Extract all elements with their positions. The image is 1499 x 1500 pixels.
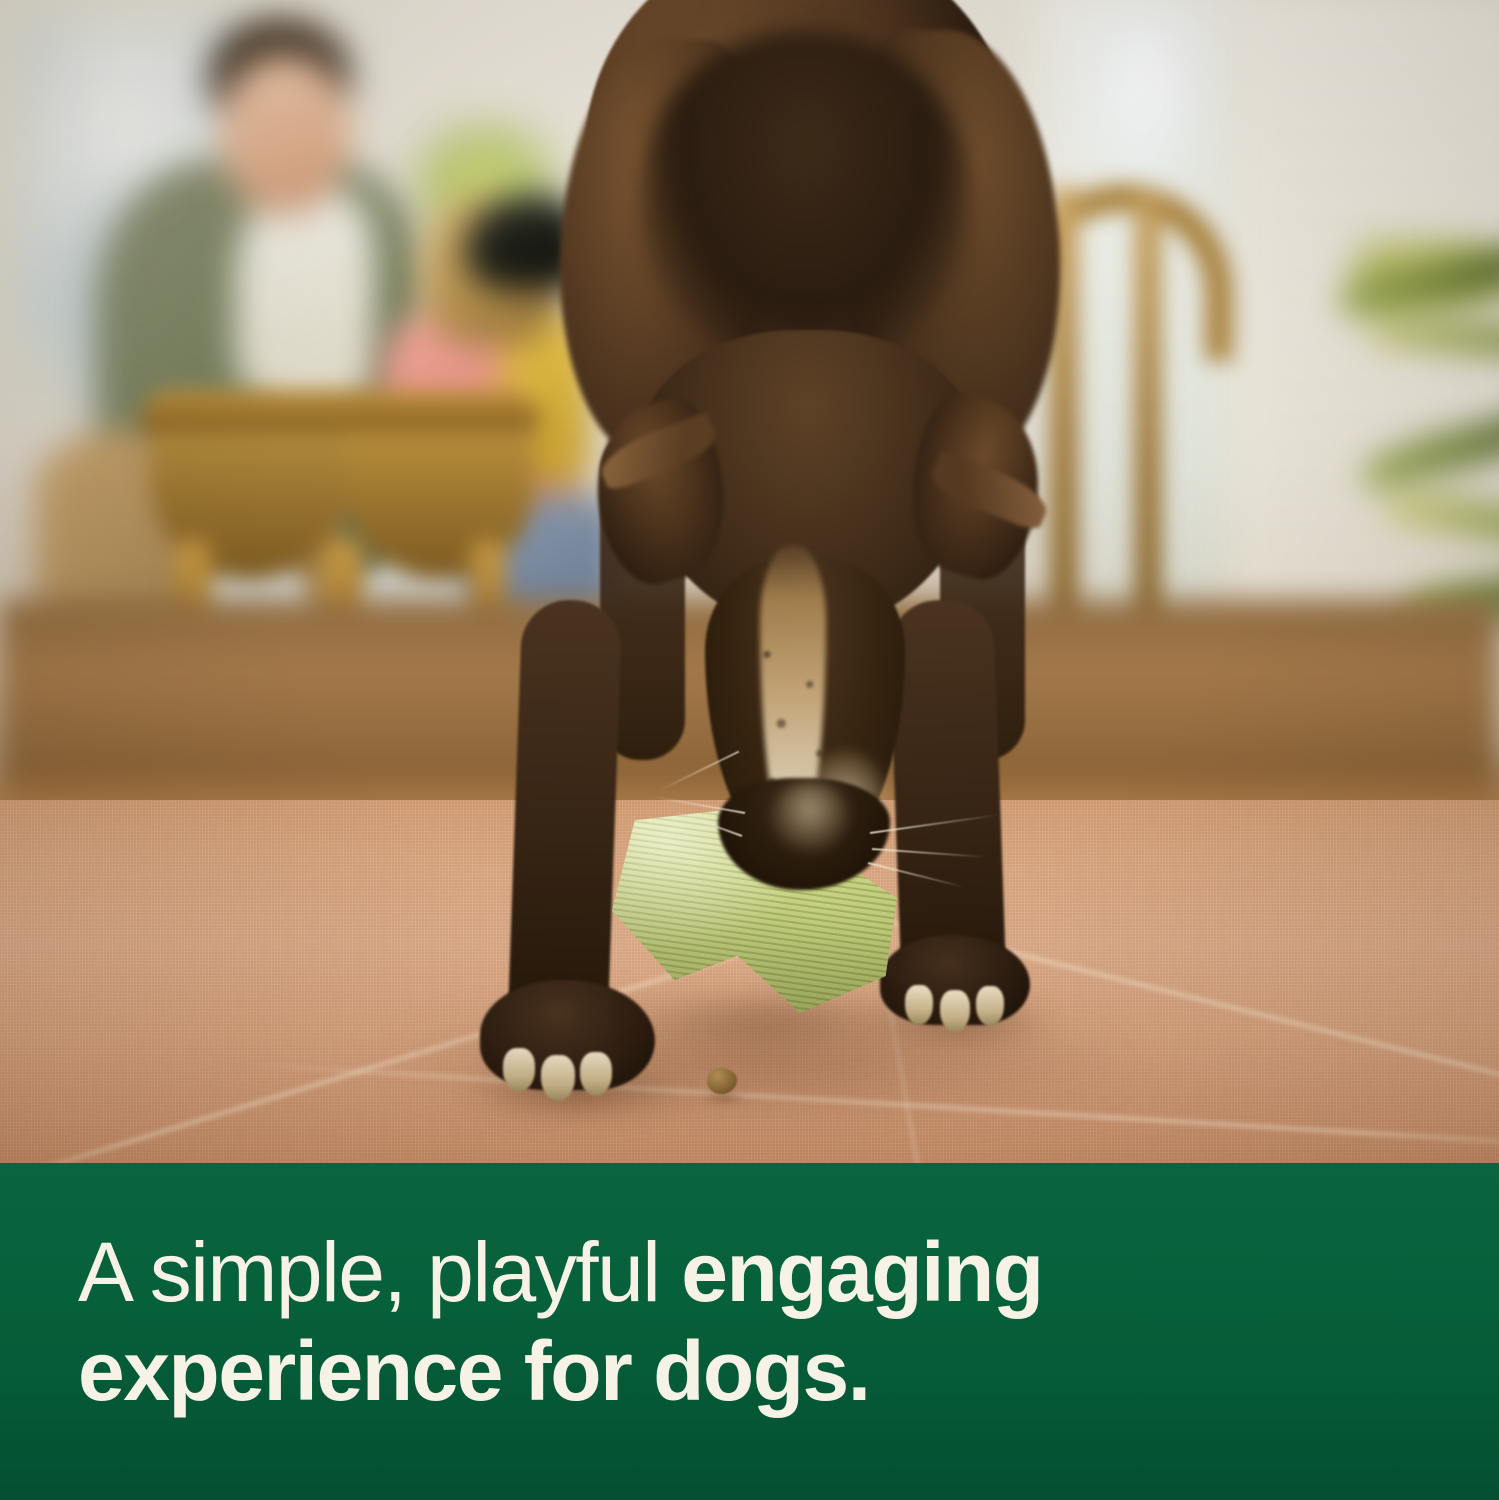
- dog-spine-shading: [640, 30, 970, 360]
- headline-line-two: experience for dogs.: [78, 1322, 1378, 1421]
- dog-toe: [976, 986, 1004, 1026]
- dog-foreleg-left: [508, 598, 623, 1031]
- headline: A simple, playful engagingexperience for…: [78, 1223, 1378, 1421]
- dog-muzzle-highlight: [770, 782, 850, 852]
- dog-toe: [503, 1048, 535, 1092]
- headline-banner: A simple, playful engagingexperience for…: [0, 1163, 1499, 1500]
- headline-container: A simple, playful engagingexperience for…: [78, 1223, 1439, 1421]
- lifestyle-photo: [0, 0, 1499, 1166]
- dog-toe: [541, 1055, 575, 1101]
- headline-lead: A simple, playful: [78, 1225, 681, 1319]
- product-lifestyle-banner: A simple, playful engagingexperience for…: [0, 0, 1499, 1500]
- dog-toe: [940, 990, 970, 1032]
- headline-emphasis: engaging: [681, 1225, 1042, 1319]
- dog-toe: [580, 1052, 612, 1096]
